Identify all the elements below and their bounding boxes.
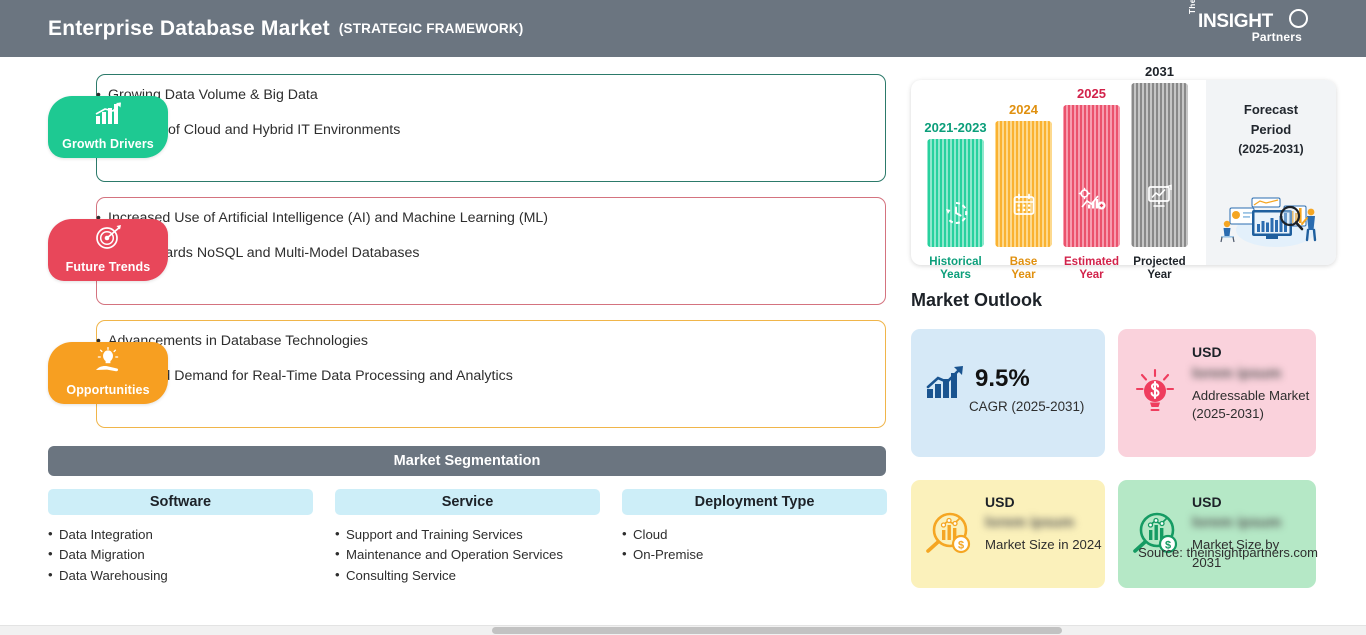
list-item: Adoption of Cloud and Hybrid IT Environm… [96, 121, 856, 140]
currency-label: USD [985, 494, 1015, 510]
page-title: Enterprise Database Market [48, 17, 330, 41]
badge-label: Opportunities [66, 383, 149, 404]
segment-column-service: Service Support and Training Services Ma… [335, 489, 600, 586]
magnifier-chart-dollar-icon: $ [923, 510, 973, 563]
future-trends-list: Increased Use of Artificial Intelligence… [96, 197, 856, 267]
page-header: Enterprise Database Market (STRATEGIC FR… [0, 0, 1366, 57]
timeline-chart: 2021-2023 [911, 80, 1336, 265]
left-column: Growing Data Volume & Big Data Adoption … [0, 57, 900, 635]
bar-year-label: 2024 [1009, 102, 1038, 117]
bar-name: HistoricalYears [929, 256, 981, 283]
list-item: Data Migration [48, 545, 313, 565]
growth-drivers-badge[interactable]: Growth Drivers [48, 96, 168, 158]
timeline-bar-base: 2024 [995, 121, 1052, 247]
segment-items: Cloud On-Premise [622, 525, 887, 566]
target-dart-icon [93, 224, 123, 255]
horizontal-scrollbar-thumb[interactable] [492, 627, 1062, 634]
opportunities-badge[interactable]: Opportunities [48, 342, 168, 404]
svg-text:$: $ [958, 540, 964, 552]
cagr-label: CAGR (2025-2031) [969, 399, 1084, 414]
cagr-value: 9.5% [975, 367, 1030, 391]
cagr-card: 9.5% CAGR (2025-2031) [911, 329, 1105, 457]
timeline-bar-historical: 2021-2023 [927, 139, 984, 247]
chart-gear-icon [1078, 187, 1106, 211]
timeline-bar-estimated: 2025 [1063, 105, 1120, 247]
list-item: Cloud [622, 525, 887, 545]
hand-lightbulb-icon [92, 347, 124, 379]
addressable-market-card: USD lorem ipsum Addressable Market (2025… [1118, 329, 1316, 457]
logo-partners-text: Partners [1252, 30, 1302, 44]
list-item: Maintenance and Operation Services [335, 545, 600, 565]
market-outlook-title: Market Outlook [911, 290, 1042, 311]
segment-items: Support and Training Services Maintenanc… [335, 525, 600, 586]
lightbulb-dollar-icon [1132, 367, 1178, 422]
segment-header: Deployment Type [622, 489, 887, 515]
logo-bubble-icon [1289, 9, 1308, 28]
business-analytics-illustration [1216, 186, 1326, 253]
blurred-value: lorem ipsum [1192, 365, 1281, 382]
list-item: Consulting Service [335, 566, 600, 586]
clock-history-icon [943, 200, 969, 226]
blurred-value: lorem ipsum [1192, 514, 1281, 531]
logo-the-text: The [1188, 0, 1197, 14]
growth-drivers-list: Growing Data Volume & Big Data Adoption … [96, 74, 856, 144]
list-item: Data Warehousing [48, 566, 313, 586]
market-segmentation-title: Market Segmentation [394, 453, 541, 469]
timeline-bar-projected: 2031 [1131, 83, 1188, 247]
list-item: Advancements in Database Technologies [96, 332, 856, 351]
badge-label: Future Trends [66, 260, 151, 281]
calendar-icon [1012, 193, 1036, 217]
bar-year-label: 2025 [1077, 86, 1106, 101]
currency-label: USD [1192, 344, 1222, 360]
insight-partners-logo: The INSIGHT Partners [1188, 9, 1308, 49]
segment-items: Data Integration Data Migration Data War… [48, 525, 313, 586]
bar-chart-arrow-icon [925, 365, 967, 408]
segment-column-software: Software Data Integration Data Migration… [48, 489, 313, 586]
bar-name: EstimatedYear [1064, 256, 1119, 283]
opportunities-list: Advancements in Database Technologies In… [96, 320, 856, 390]
page-subtitle: (STRATEGIC FRAMEWORK) [339, 21, 524, 36]
segment-column-deployment-type: Deployment Type Cloud On-Premise [622, 489, 887, 566]
badge-label: Growth Drivers [62, 137, 154, 158]
segment-header: Service [335, 489, 600, 515]
bar-year-label: 2021-2023 [924, 120, 986, 135]
timeline-bars: 2021-2023 [911, 80, 1206, 265]
list-item: Growing Data Volume & Big Data [96, 86, 856, 105]
forecast-period-panel: Forecast Period (2025-2031) [1206, 80, 1336, 265]
market-segmentation-header: Market Segmentation [48, 446, 886, 476]
list-item: Data Integration [48, 525, 313, 545]
currency-label: USD [1192, 494, 1222, 510]
blurred-value: lorem ipsum [985, 514, 1074, 531]
infographic-page: Enterprise Database Market (STRATEGIC FR… [0, 0, 1366, 635]
card-label: Addressable Market (2025-2031) [1192, 387, 1310, 423]
bar-year-label: 2031 [1145, 64, 1174, 79]
bar-name: BaseYear [1010, 256, 1038, 283]
future-trends-badge[interactable]: Future Trends [48, 219, 168, 281]
list-item: Shift Towards NoSQL and Multi-Model Data… [96, 244, 856, 263]
horizontal-scrollbar-track[interactable] [0, 625, 1366, 635]
list-item: Increased Demand for Real-Time Data Proc… [96, 367, 856, 386]
market-size-2024-card: $ USD lorem ipsum Market Size in 2024 [911, 480, 1105, 588]
source-attribution: Source: theinsightpartners.com [1138, 545, 1318, 560]
list-item: Support and Training Services [335, 525, 600, 545]
bar-name: ProjectedYear [1133, 256, 1185, 283]
segment-header: Software [48, 489, 313, 515]
forecast-period-text: Forecast Period (2025-2031) [1206, 100, 1336, 159]
market-size-2031-card: $ USD lorem ipsum Market Size by 2031 [1118, 480, 1316, 588]
list-item: On-Premise [622, 545, 887, 565]
presentation-chart-icon [1146, 184, 1174, 209]
list-item: Increased Use of Artificial Intelligence… [96, 209, 856, 228]
card-label: Market Size in 2024 [985, 536, 1103, 554]
bar-chart-growth-icon [93, 101, 123, 132]
